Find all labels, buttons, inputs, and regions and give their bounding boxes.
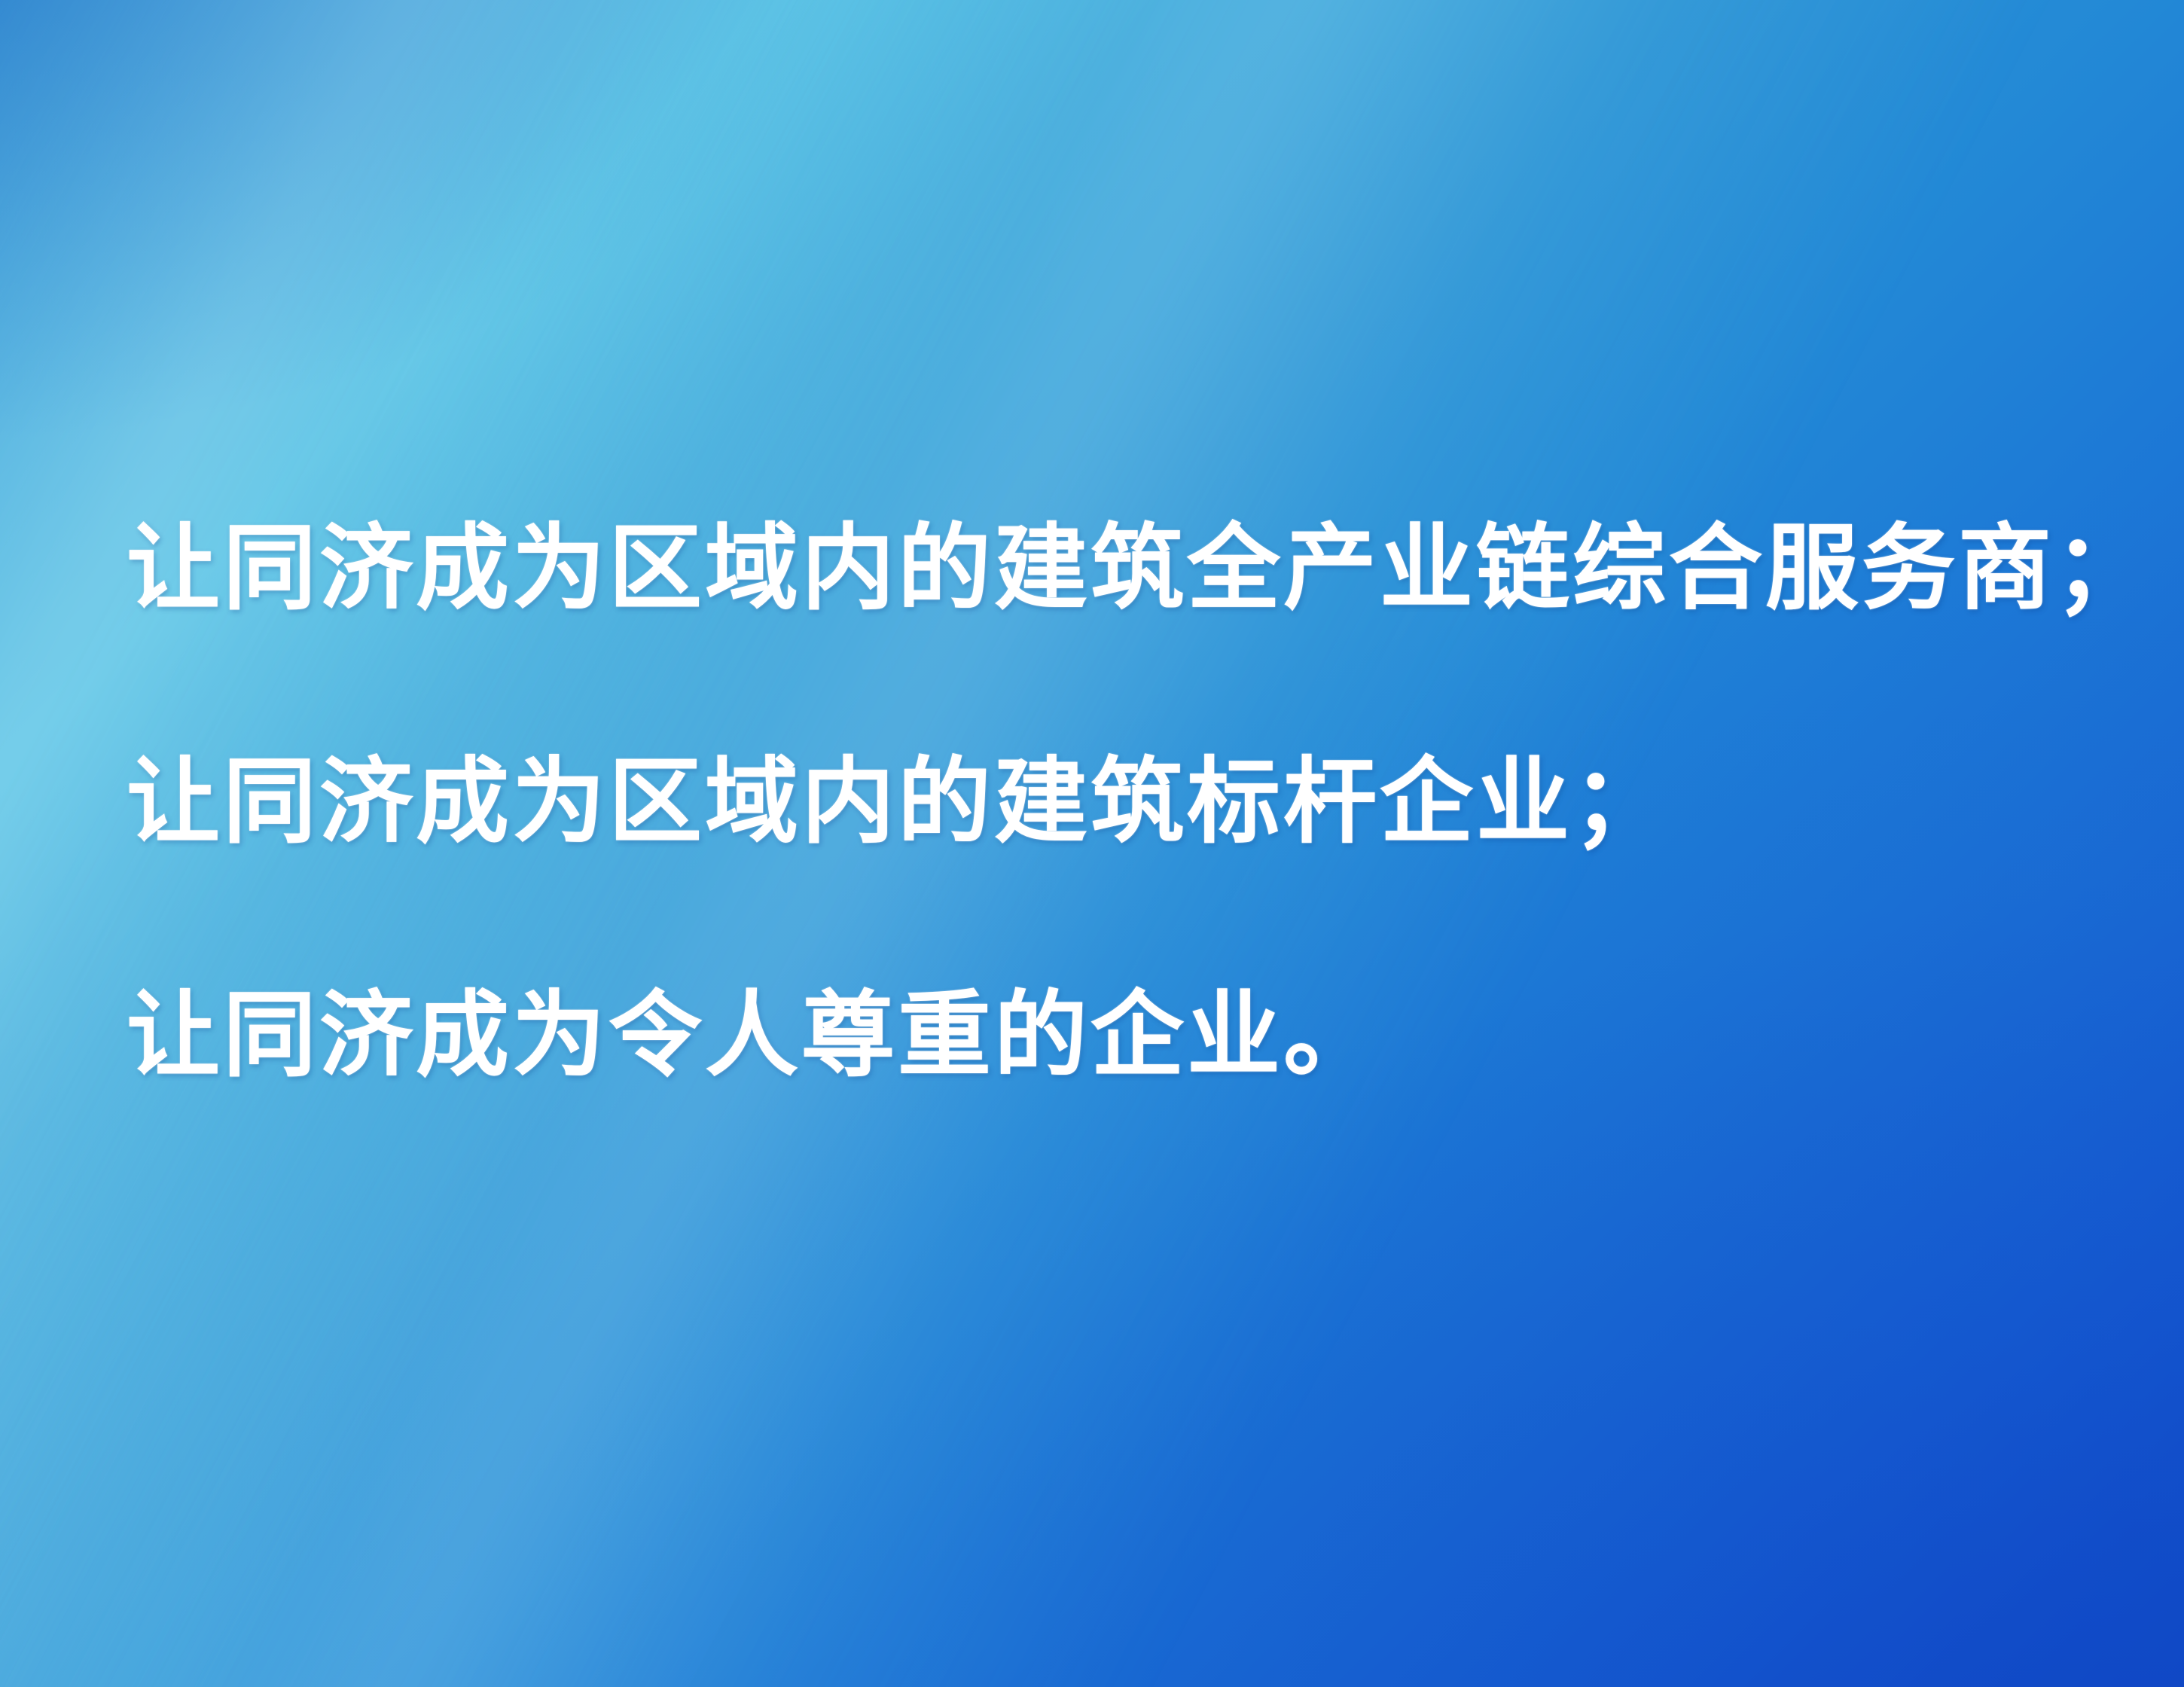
- presentation-slide: 让同济成为区域内的建筑全产业链综合服务商； 让同济成为区域内的建筑标杆企业； 让…: [0, 0, 2184, 1687]
- slide-line-2: 让同济成为区域内的建筑标杆企业；: [127, 685, 2100, 919]
- slide-line-3: 让同济成为令人尊重的企业。: [127, 919, 2100, 1152]
- slide-line-1: 让同济成为区域内的建筑全产业链综合服务商；: [127, 452, 2100, 685]
- slide-text-block: 让同济成为区域内的建筑全产业链综合服务商； 让同济成为区域内的建筑标杆企业； 让…: [127, 452, 2100, 1152]
